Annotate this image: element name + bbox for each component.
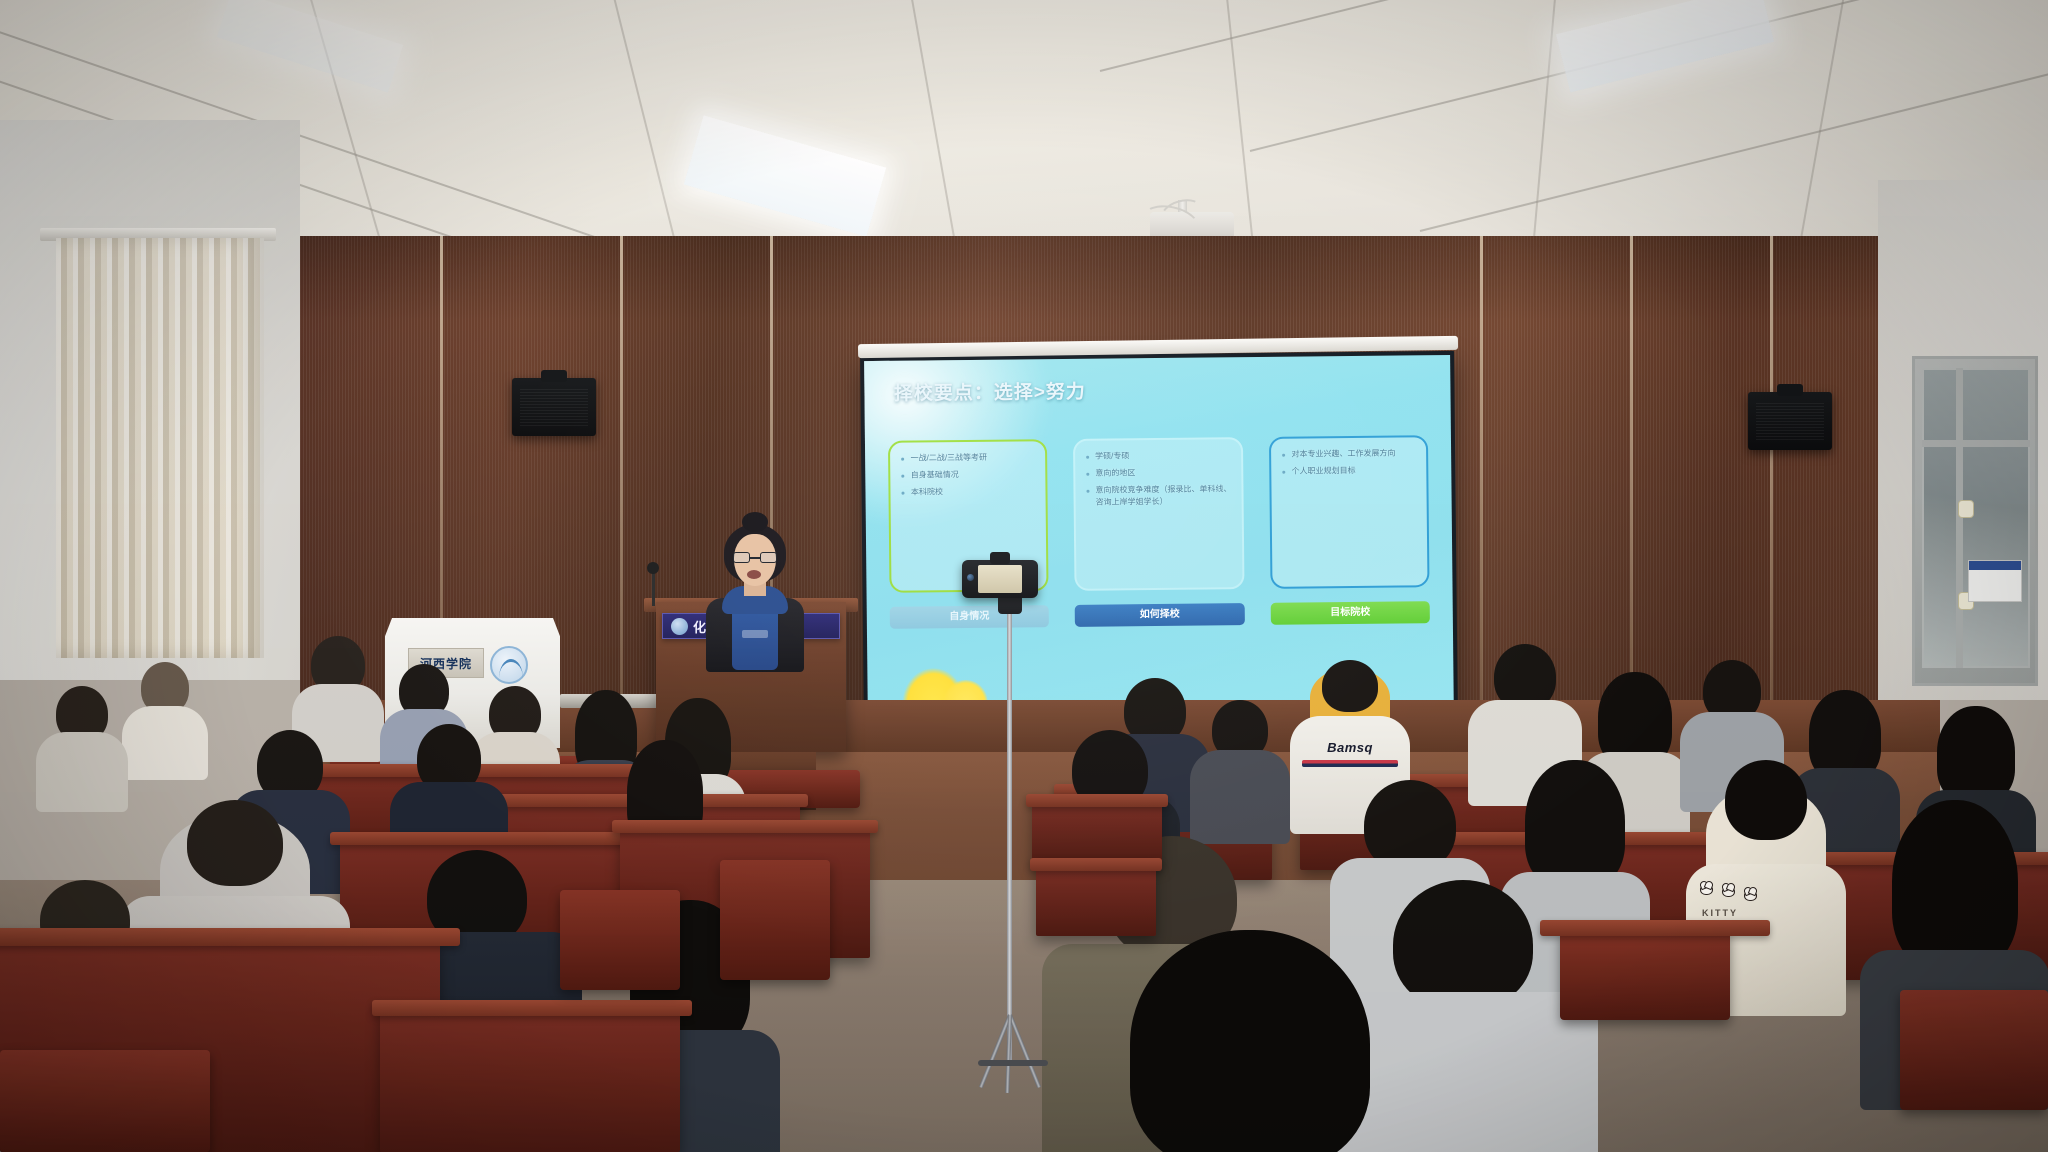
audience-member <box>1080 930 1420 1152</box>
door-mullion-horizontal <box>1922 440 2030 447</box>
presenter-glasses-icon <box>733 552 777 563</box>
slide-title: 择校要点：选择>努力 <box>894 377 1086 406</box>
hair <box>1937 706 2015 802</box>
jacket-stripe <box>1302 760 1398 767</box>
desk <box>380 1010 680 1152</box>
door-notice-upper <box>1958 500 1974 518</box>
slide-box-middle-bullets: 学硕/专硕 意向的地区 意向院校竞争难度（报录比、单科线、咨询上岸学姐学长） <box>1084 449 1233 509</box>
desk-surface <box>612 820 878 833</box>
list-item: 个人职业规划目标 <box>1281 464 1417 477</box>
tripod-center-pole <box>1007 600 1012 1065</box>
lecture-hall-photo: 择校要点：选择>努力 一战/二战/三战等考研 自身基础情况 本科院校 自身情况 … <box>0 0 2048 1152</box>
list-item: 一战/二战/三战等考研 <box>900 451 1036 464</box>
list-item: 意向院校竞争难度（报录比、单科线、咨询上岸学姐学长） <box>1084 483 1232 509</box>
slide-box-right: 对本专业兴趣、工作发展方向 个人职业规划目标 <box>1269 435 1429 589</box>
phone-clamp <box>990 552 1010 564</box>
college-emblem-icon <box>671 618 688 635</box>
hair <box>1892 800 2018 970</box>
tripod-feet <box>978 1060 1048 1066</box>
hello-kitty-icon <box>1722 886 1735 897</box>
bench-back <box>560 890 680 990</box>
hello-kitty-icon <box>1744 890 1757 901</box>
smartphone-recording[interactable] <box>962 560 1038 598</box>
presenter-hair-bun <box>742 512 768 532</box>
slide-pill-right: 目标院校 <box>1271 601 1429 625</box>
hair <box>1525 760 1625 888</box>
bench-back <box>1560 930 1730 1020</box>
desk-surface <box>1540 920 1770 936</box>
slide-box-left-bullets: 一战/二战/三战等考研 自身基础情况 本科院校 <box>900 451 1037 498</box>
window-blinds <box>56 238 264 658</box>
list-item: 自身基础情况 <box>900 468 1036 481</box>
desk-surface <box>1030 858 1162 871</box>
jacket-brand-text: Bamsq <box>1327 740 1373 755</box>
audience-member <box>122 662 208 772</box>
desk <box>1036 866 1156 936</box>
phone-screen <box>978 565 1022 593</box>
head <box>1725 760 1807 840</box>
wall-speaker-left-bracket <box>541 370 567 382</box>
hoodie-text-label: KITTY <box>1702 908 1738 918</box>
presenter-hoodie-logo-icon <box>742 630 768 638</box>
list-item: 本科院校 <box>900 485 1036 498</box>
audience-member <box>36 686 128 806</box>
slide-box-right-bullets: 对本专业兴趣、工作发展方向 个人职业规划目标 <box>1280 447 1417 477</box>
audience-member <box>1190 700 1290 840</box>
list-item: 对本专业兴趣、工作发展方向 <box>1280 447 1416 460</box>
microphone-stand <box>652 570 655 606</box>
head <box>1322 660 1378 712</box>
wall-speaker-right-bracket <box>1777 384 1803 396</box>
door-glass-pane <box>1922 368 2030 668</box>
desk-surface <box>0 928 460 946</box>
bench-back <box>0 1050 210 1152</box>
presenter-mouth <box>747 570 761 579</box>
slide-pill-left: 自身情况 <box>890 605 1048 629</box>
desk-surface <box>372 1000 692 1016</box>
door-poster-sign <box>1968 560 2022 602</box>
presenter <box>700 512 810 662</box>
list-item: 意向的地区 <box>1084 466 1232 480</box>
slide-pill-middle: 如何择校 <box>1075 603 1245 627</box>
wall-speaker-right <box>1748 392 1832 450</box>
hello-kitty-icon <box>1700 884 1713 895</box>
wall-speaker-left <box>512 378 596 436</box>
list-item: 学硕/专硕 <box>1084 449 1232 463</box>
bench-back <box>1900 990 2048 1110</box>
desk-surface <box>330 832 670 845</box>
hair <box>1130 930 1370 1152</box>
microphone-icon <box>647 562 659 574</box>
slide-box-middle: 学硕/专硕 意向的地区 意向院校竞争难度（报录比、单科线、咨询上岸学姐学长） <box>1073 437 1245 591</box>
head <box>187 800 283 886</box>
torso <box>122 706 208 780</box>
bench-back <box>720 860 830 980</box>
phone-camera-icon <box>967 574 974 581</box>
torso <box>36 732 128 812</box>
desk-surface <box>1026 794 1168 807</box>
door-mullion-vertical <box>1956 368 1963 668</box>
torso <box>1190 750 1290 844</box>
desk <box>1032 800 1162 864</box>
university-logo-icon <box>490 646 528 684</box>
